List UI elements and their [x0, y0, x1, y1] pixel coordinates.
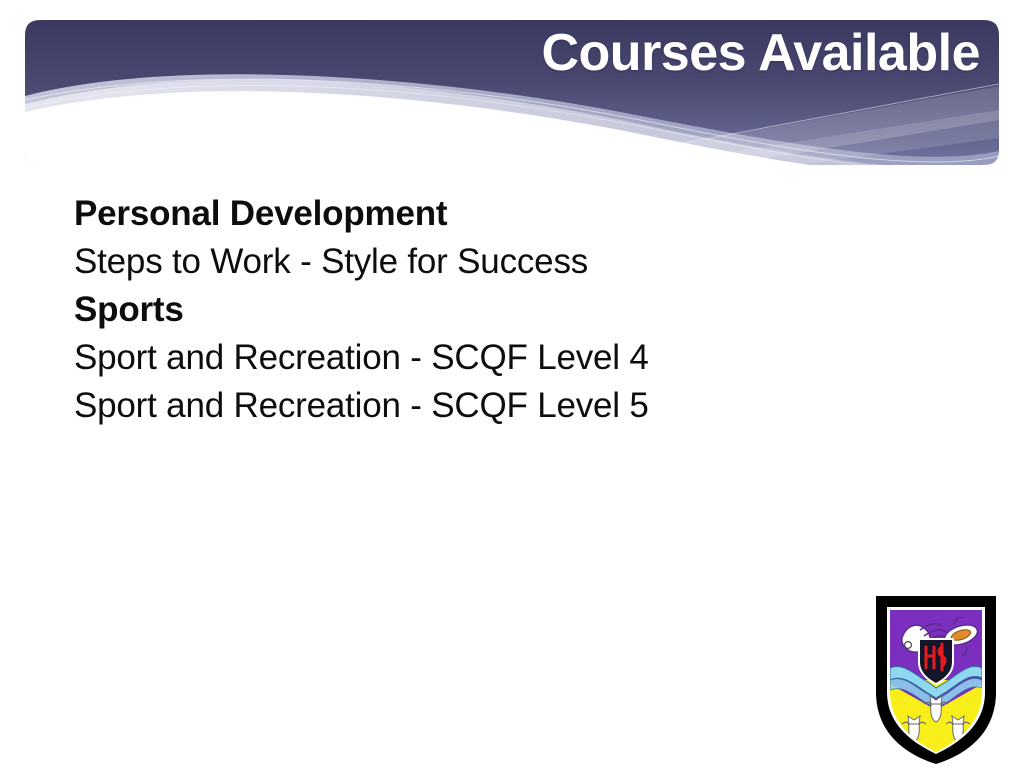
school-crest-icon: [868, 588, 1004, 766]
list-item: Sports: [74, 286, 894, 334]
page-title: Courses Available: [0, 22, 980, 84]
school-crest-logo: [868, 588, 1004, 766]
list-item: Personal Development: [74, 190, 894, 238]
list-item: Sport and Recreation - SCQF Level 5: [74, 382, 894, 430]
slide-canvas: Courses Available Personal Development S…: [0, 0, 1024, 768]
list-item: Steps to Work - Style for Success: [74, 238, 894, 286]
list-item: Sport and Recreation - SCQF Level 4: [74, 334, 894, 382]
header-banner: Courses Available: [0, 0, 1024, 185]
course-list: Personal Development Steps to Work - Sty…: [74, 190, 894, 430]
